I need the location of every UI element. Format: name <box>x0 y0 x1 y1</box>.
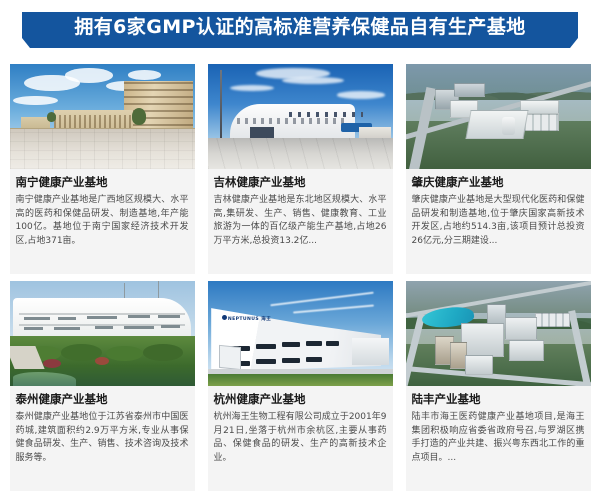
facility-card-taizhou[interactable]: 泰州健康产业基地 泰州健康产业基地位于江苏省泰州市中国医药城,建筑面积约2.9万… <box>10 281 195 491</box>
facility-photo-taizhou <box>10 281 195 386</box>
facility-card-zhaoqing[interactable]: 肇庆健康产业基地 肇庆健康产业基地是大型现代化医药和保健品研发和制造基地,位于肇… <box>406 64 591 274</box>
facility-description-zhaoqing: 肇庆健康产业基地是大型现代化医药和保健品研发和制造基地,位于肇庆国家高新技术开发… <box>412 194 585 248</box>
facility-title-taizhou: 泰州健康产业基地 <box>16 392 189 407</box>
facility-title-nanning: 南宁健康产业基地 <box>16 175 189 190</box>
page-title: 拥有6家GMP认证的高标准营养保健品自有生产基地 <box>22 12 578 43</box>
facility-body-lufeng: 陆丰产业基地 陆丰市海王医药健康产业基地项目,是海王集团积极响应省委省政府号召,… <box>406 386 591 491</box>
page-header: 拥有6家GMP认证的高标准营养保健品自有生产基地 <box>0 12 600 50</box>
facility-photo-jilin <box>208 64 393 169</box>
facility-card-lufeng[interactable]: 陆丰产业基地 陆丰市海王医药健康产业基地项目,是海王集团积极响应省委省政府号召,… <box>406 281 591 491</box>
header-banner-shape: 拥有6家GMP认证的高标准营养保健品自有生产基地 <box>22 12 578 48</box>
facility-card-nanning[interactable]: 南宁健康产业基地 南宁健康产业基地是广西地区规模大、水平高的医药和保健品研发、制… <box>10 64 195 274</box>
facility-body-zhaoqing: 肇庆健康产业基地 肇庆健康产业基地是大型现代化医药和保健品研发和制造基地,位于肇… <box>406 169 591 274</box>
facility-photo-hangzhou: NEPTUNUS 海王 <box>208 281 393 386</box>
facility-body-jilin: 吉林健康产业基地 吉林健康产业基地是东北地区规模大、水平高,集研发、生产、销售、… <box>208 169 393 274</box>
facility-title-jilin: 吉林健康产业基地 <box>214 175 387 190</box>
facility-description-nanning: 南宁健康产业基地是广西地区规模大、水平高的医药和保健品研发、制造基地,年产能10… <box>16 194 189 248</box>
facility-title-zhaoqing: 肇庆健康产业基地 <box>412 175 585 190</box>
facility-card-grid: 南宁健康产业基地 南宁健康产业基地是广西地区规模大、水平高的医药和保健品研发、制… <box>0 64 600 498</box>
facility-card-jilin[interactable]: 吉林健康产业基地 吉林健康产业基地是东北地区规模大、水平高,集研发、生产、销售、… <box>208 64 393 274</box>
facility-body-hangzhou: 杭州健康产业基地 杭州海王生物工程有限公司成立于2001年9月21日,坐落于杭州… <box>208 386 393 491</box>
building-logo-text: NEPTUNUS 海王 <box>228 316 271 322</box>
facility-body-taizhou: 泰州健康产业基地 泰州健康产业基地位于江苏省泰州市中国医药城,建筑面积约2.9万… <box>10 386 195 491</box>
facility-description-hangzhou: 杭州海王生物工程有限公司成立于2001年9月21日,坐落于杭州市余杭区,主要从事… <box>214 411 387 465</box>
facility-description-taizhou: 泰州健康产业基地位于江苏省泰州市中国医药城,建筑面积约2.9万平方米,专业从事保… <box>16 411 189 465</box>
facility-card-hangzhou[interactable]: NEPTUNUS 海王 杭州健康产业基地 杭州海王生物工程有限公司成立于2001… <box>208 281 393 491</box>
facility-description-lufeng: 陆丰市海王医药健康产业基地项目,是海王集团积极响应省委省政府号召,与罗湖区携手打… <box>412 411 585 465</box>
facility-description-jilin: 吉林健康产业基地是东北地区规模大、水平高,集研发、生产、销售、健康教育、工业旅游… <box>214 194 387 248</box>
facility-body-nanning: 南宁健康产业基地 南宁健康产业基地是广西地区规模大、水平高的医药和保健品研发、制… <box>10 169 195 274</box>
facility-photo-nanning <box>10 64 195 169</box>
facility-title-hangzhou: 杭州健康产业基地 <box>214 392 387 407</box>
facility-title-lufeng: 陆丰产业基地 <box>412 392 585 407</box>
facility-photo-lufeng <box>406 281 591 386</box>
facility-photo-zhaoqing <box>406 64 591 169</box>
